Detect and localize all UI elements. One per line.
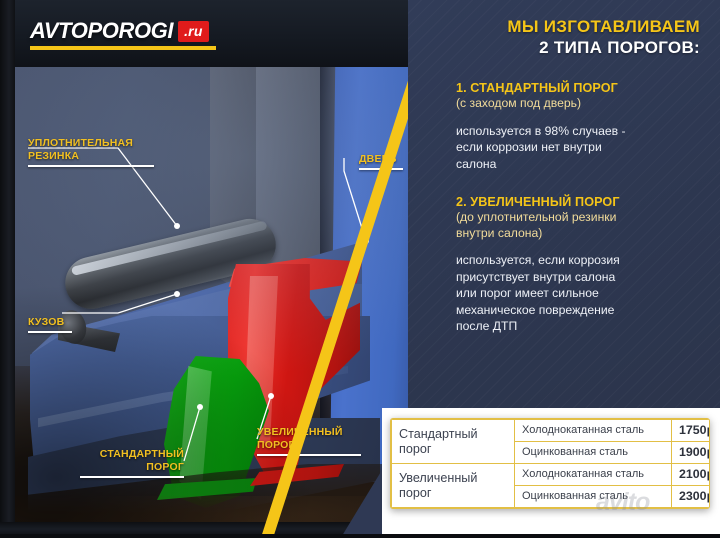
price-value: 2100р. xyxy=(672,464,711,486)
price-table: Стандартный порог Холоднокатанная сталь … xyxy=(390,418,710,509)
price-type-standard: Стандартный порог xyxy=(392,420,515,464)
sill-illustration: УПЛОТНИТЕЛЬНАЯ РЕЗИНКА ДВЕРЬ КУЗОВ СТАНД… xyxy=(0,0,430,538)
headline: МЫ ИЗГОТАВЛИВАЕМ 2 ТИПА ПОРОГОВ: xyxy=(456,16,706,58)
price-type-enlarged: Увеличенный порог xyxy=(392,464,515,508)
info-block-standard-body: используется в 98% случаев - если корроз… xyxy=(456,123,706,173)
logo-wordmark: AVTOPOROGI xyxy=(30,18,173,44)
headline-line-2: 2 ТИПА ПОРОГОВ: xyxy=(456,37,700,58)
leader-line-standard xyxy=(184,407,200,461)
price-material: Холоднокатанная сталь xyxy=(515,420,672,442)
price-material: Оцинкованная сталь xyxy=(515,486,672,508)
info-block-standard-subtitle: (с заходом под дверь) xyxy=(456,96,706,112)
callout-standard: СТАНДАРТНЫЙ ПОРОГ xyxy=(80,435,184,491)
price-value: 1900р. xyxy=(672,442,711,464)
logo-tld-badge: .ru xyxy=(178,21,209,42)
callout-enlarged-rule xyxy=(257,454,361,456)
promo-banner: УПЛОТНИТЕЛЬНАЯ РЕЗИНКА ДВЕРЬ КУЗОВ СТАНД… xyxy=(0,0,720,538)
info-block-enlarged-body: используется, если коррозия присутствует… xyxy=(456,252,706,335)
info-block-enlarged: 2. УВЕЛИЧЕННЫЙ ПОРОГ (до уплотнительной … xyxy=(456,194,706,335)
callout-seal-label: УПЛОТНИТЕЛЬНАЯ РЕЗИНКА xyxy=(28,137,133,162)
callout-body: КУЗОВ xyxy=(28,303,72,346)
logo[interactable]: AVTOPOROGI .ru xyxy=(30,18,216,50)
bottom-edge xyxy=(0,534,720,538)
price-value: 1750р. xyxy=(672,420,711,442)
info-block-enlarged-title: 2. УВЕЛИЧЕННЫЙ ПОРОГ xyxy=(456,194,706,210)
price-material: Оцинкованная сталь xyxy=(515,442,672,464)
info-block-enlarged-subtitle: (до уплотнительной резинки внутри салона… xyxy=(456,210,706,241)
leader-dot-standard xyxy=(197,404,203,410)
leader-dot-seal xyxy=(174,223,180,229)
callout-body-rule xyxy=(28,331,72,333)
frame-left-edge xyxy=(0,0,15,538)
illustration-canvas: УПЛОТНИТЕЛЬНАЯ РЕЗИНКА ДВЕРЬ КУЗОВ СТАНД… xyxy=(14,66,430,523)
logo-underline xyxy=(30,46,216,50)
callout-body-label: КУЗОВ xyxy=(28,316,64,328)
callout-standard-rule xyxy=(80,476,184,478)
leader-dot-enlarged xyxy=(268,393,274,399)
info-block-standard-title: 1. СТАНДАРТНЫЙ ПОРОГ xyxy=(456,80,706,96)
table-row: Стандартный порог Холоднокатанная сталь … xyxy=(392,420,711,442)
price-value: 2300р. xyxy=(672,486,711,508)
callout-standard-label: СТАНДАРТНЫЙ ПОРОГ xyxy=(100,448,184,473)
headline-line-1: МЫ ИЗГОТАВЛИВАЕМ xyxy=(456,16,700,37)
leader-line-body xyxy=(62,294,177,313)
leader-dot-body xyxy=(174,291,180,297)
callout-seal: УПЛОТНИТЕЛЬНАЯ РЕЗИНКА xyxy=(28,124,154,180)
info-block-standard: 1. СТАНДАРТНЫЙ ПОРОГ (с заходом под двер… xyxy=(456,80,706,172)
price-material: Холоднокатанная сталь xyxy=(515,464,672,486)
callout-seal-rule xyxy=(28,165,154,167)
table-row: Увеличенный порог Холоднокатанная сталь … xyxy=(392,464,711,486)
